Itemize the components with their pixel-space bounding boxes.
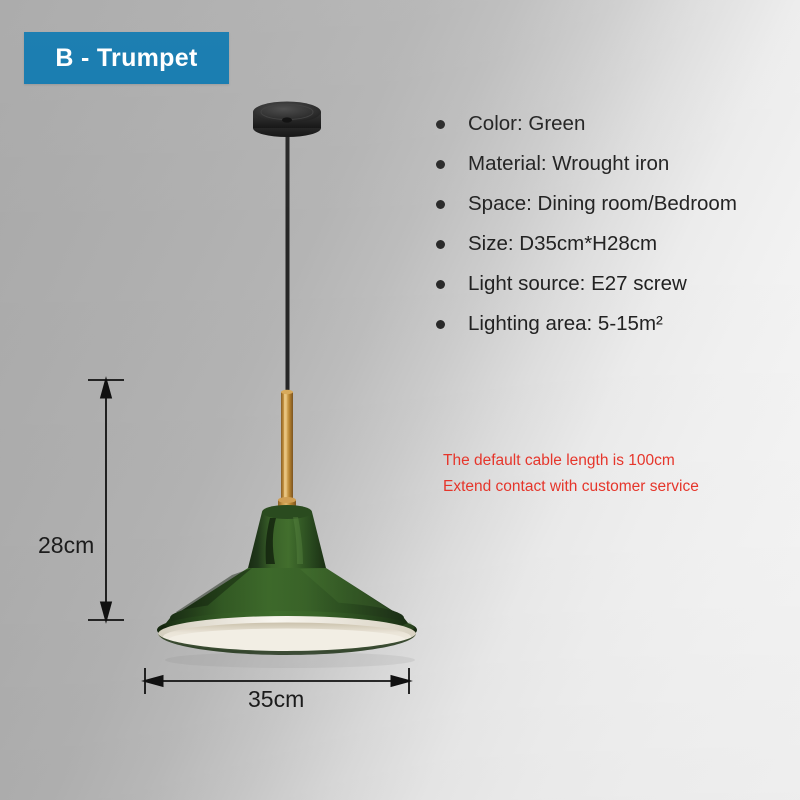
spec-item-text: Lighting area: 5-15m²: [468, 312, 663, 336]
bullet-icon: [436, 280, 445, 289]
ceiling-canopy: [253, 102, 321, 138]
note-line: Extend contact with customer service: [443, 474, 699, 500]
spec-item: Lighting area: 5-15m²: [436, 304, 776, 344]
spec-item-text: Space: Dining room/Bedroom: [468, 192, 737, 216]
width-dimension-label: 35cm: [248, 686, 304, 713]
spec-item-text: Material: Wrought iron: [468, 152, 669, 176]
specification-list: Color: Green Material: Wrought iron Spac…: [436, 104, 776, 344]
bullet-icon: [436, 120, 445, 129]
lamp-cord: [286, 128, 290, 396]
height-dimension-line: [88, 378, 124, 622]
bullet-icon: [436, 200, 445, 209]
brass-rod: [278, 390, 296, 508]
height-dimension-label: 28cm: [38, 532, 94, 559]
bullet-icon: [436, 320, 445, 329]
bullet-icon: [436, 240, 445, 249]
bullet-icon: [436, 160, 445, 169]
product-image-scene: B - Trumpet: [0, 0, 800, 800]
spec-item: Size: D35cm*H28cm: [436, 224, 776, 264]
spec-item-text: Color: Green: [468, 112, 585, 136]
spec-item: Space: Dining room/Bedroom: [436, 184, 776, 224]
cable-length-notes: The default cable length is 100cm Extend…: [443, 448, 699, 500]
spec-item-text: Size: D35cm*H28cm: [468, 232, 657, 256]
spec-item: Material: Wrought iron: [436, 144, 776, 184]
spec-item: Light source: E27 screw: [436, 264, 776, 304]
lamp-shade-neck: [248, 505, 326, 568]
spec-item: Color: Green: [436, 104, 776, 144]
spec-item-text: Light source: E27 screw: [468, 272, 687, 296]
note-line: The default cable length is 100cm: [443, 448, 699, 474]
